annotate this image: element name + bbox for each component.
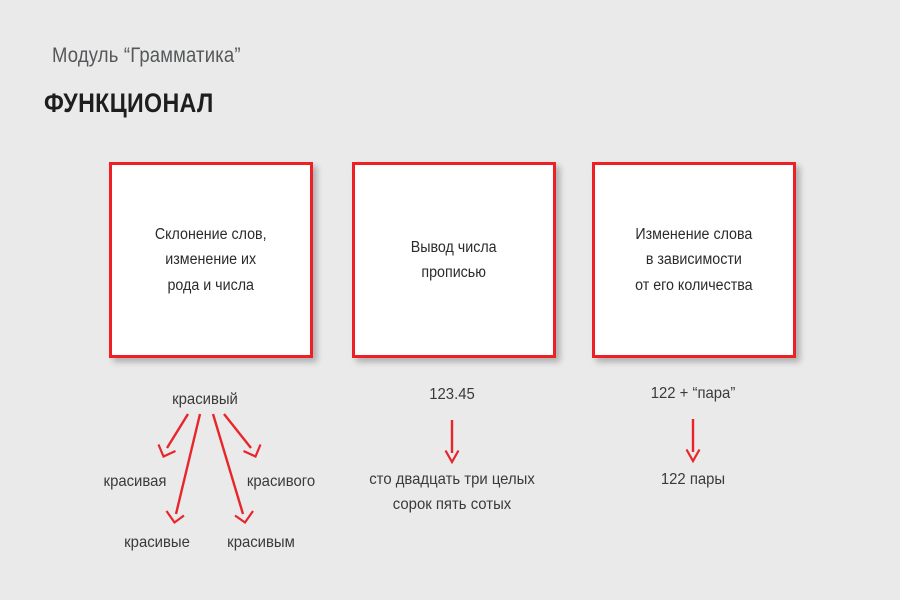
feature-card-pluralization-text: Изменение слова в зависимости от его кол… [628, 222, 760, 297]
example-declension-base-word: красивый [172, 391, 238, 409]
example-declension-form-plural: красивые [124, 531, 190, 556]
arrow-line-to-genitive [224, 414, 251, 448]
arrowhead-genitive [244, 445, 261, 457]
example-declension-form-instrumental: красивым [227, 531, 295, 556]
example-declension-form-feminine: красивая [104, 470, 167, 495]
page-title: ФУНКЦИОНАЛ [44, 88, 214, 119]
example-plural-input: 122 + “пара” [651, 385, 736, 403]
arrow-line-to-feminine [167, 414, 188, 448]
arrow-line-to-instrumental [213, 414, 243, 514]
feature-card-declension: Склонение слов, изменение их рода и числ… [109, 162, 313, 358]
arrowhead-instrumental [235, 511, 253, 523]
example-plural-output: 122 пары [661, 468, 725, 493]
arrow-line-to-plural [176, 414, 200, 514]
example-declension-form-genitive: красивого [247, 470, 315, 495]
module-subtitle: Модуль “Грамматика” [52, 44, 241, 68]
arrowhead-feminine [159, 445, 176, 457]
feature-card-declension-text: Склонение слов, изменение их рода и числ… [148, 222, 274, 297]
feature-card-number-to-words: Вывод числа прописью [352, 162, 556, 358]
example-number-output: сто двадцать три целых сорок пять сотых [369, 468, 535, 518]
example-number-input: 123.45 [429, 386, 475, 404]
slide-root: Модуль “Грамматика” ФУНКЦИОНАЛ Склонение… [0, 0, 900, 600]
feature-card-number-to-words-text: Вывод числа прописью [404, 235, 505, 285]
arrowhead-number-to-words [446, 451, 459, 463]
feature-card-pluralization: Изменение слова в зависимости от его кол… [592, 162, 796, 358]
arrowhead-plural [167, 511, 185, 523]
arrowhead-pluralization [687, 450, 700, 462]
